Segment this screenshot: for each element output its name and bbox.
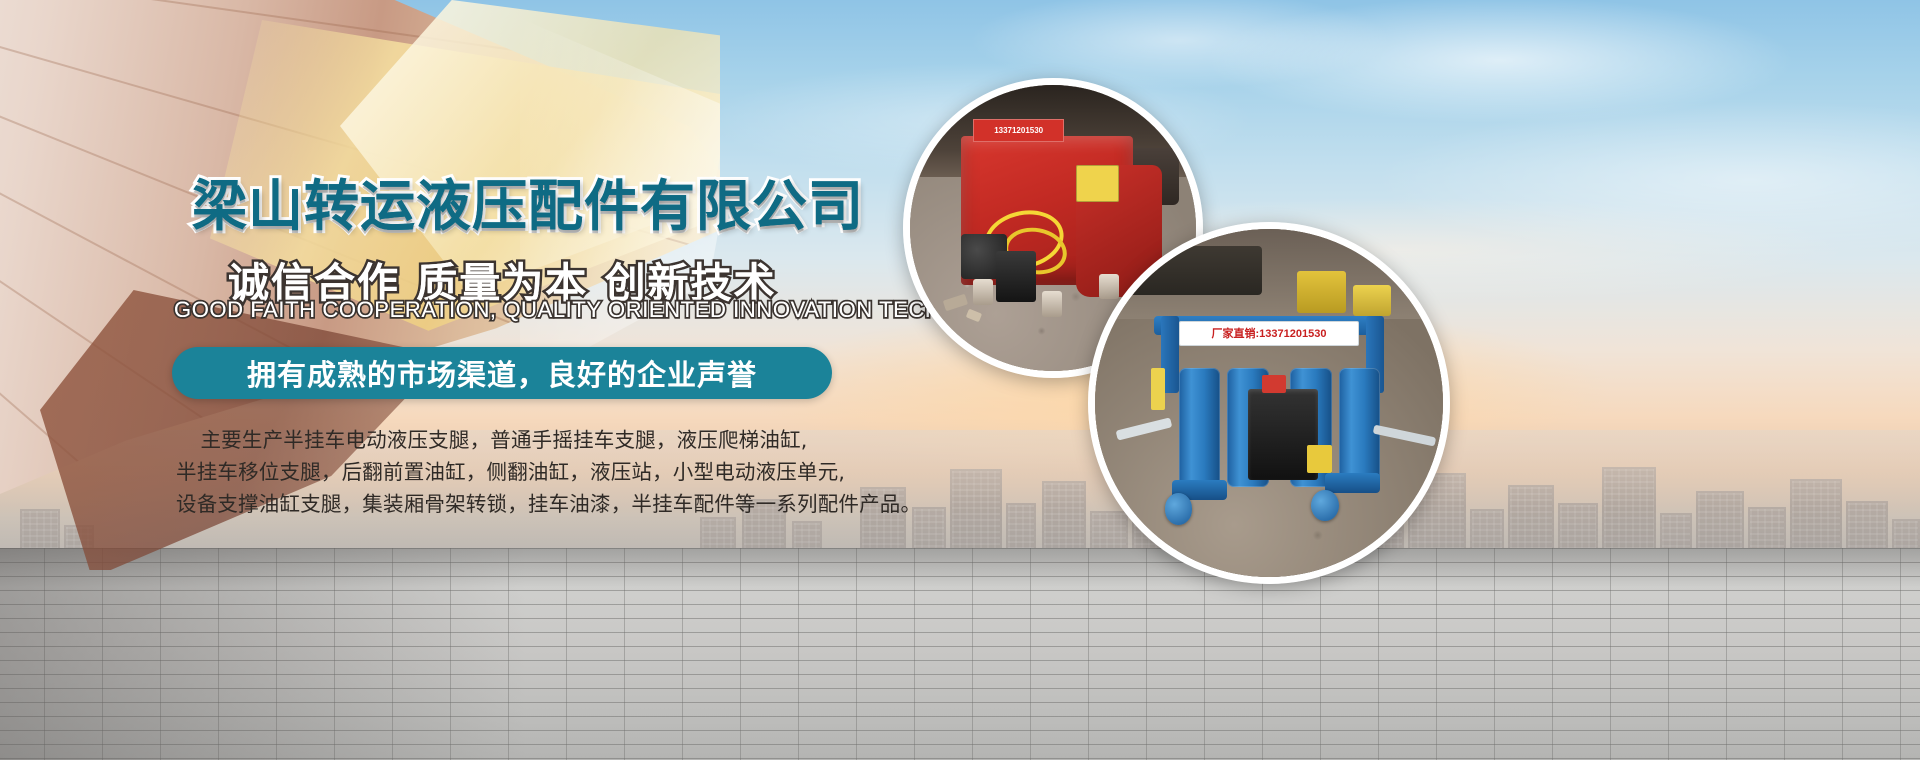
blue-machine-photo: 厂家直销:13371201530 bbox=[1095, 229, 1443, 577]
blue-machine-phone-sign: 厂家直销:13371201530 bbox=[1179, 321, 1360, 345]
blue-machine-caster-wheel bbox=[1165, 493, 1193, 524]
blue-machine-yellow-badge bbox=[1307, 445, 1331, 473]
blue-machine-hydraulic-cylinder bbox=[1179, 368, 1221, 486]
red-machine-support-pad bbox=[1042, 291, 1062, 317]
blue-machine-base-foot bbox=[1325, 473, 1381, 494]
banner-text-column: 梁山转运液压配件有限公司 梁山转运液压配件有限公司 诚信合作 质量为本 创新技术… bbox=[0, 0, 900, 760]
description-line-2: 半挂车移位支腿，后翻前置油缸，侧翻油缸，液压站，小型电动液压单元, bbox=[176, 456, 832, 488]
red-machine-pump bbox=[996, 251, 1036, 302]
red-machine-warning-label bbox=[1076, 165, 1119, 202]
highlight-pill: 拥有成熟的市场渠道，良好的企业声誉 bbox=[172, 347, 832, 399]
photo-circle-blue-machine: 厂家直销:13371201530 bbox=[1088, 222, 1450, 584]
product-description: 主要生产半挂车电动液压支腿，普通手摇挂车支腿，液压爬梯油缸, 半挂车移位支腿，后… bbox=[176, 424, 832, 520]
hero-banner: 梁山转运液压配件有限公司 梁山转运液压配件有限公司 诚信合作 质量为本 创新技术… bbox=[0, 0, 1920, 760]
red-machine-phone-sign: 13371201530 bbox=[973, 119, 1065, 142]
blue-photo-background-equipment bbox=[1123, 246, 1262, 295]
blue-photo-background-yellow-part bbox=[1353, 285, 1391, 316]
blue-machine-yellow-marker bbox=[1151, 368, 1165, 410]
highlight-pill-text: 拥有成熟的市场渠道，良好的企业声誉 bbox=[172, 347, 832, 399]
red-machine-support-pad bbox=[973, 279, 993, 305]
company-title: 梁山转运液压配件有限公司 bbox=[192, 161, 864, 241]
blue-machine-red-button bbox=[1262, 375, 1286, 392]
blue-machine-caster-wheel bbox=[1311, 490, 1339, 521]
description-line-1: 主要生产半挂车电动液压支腿，普通手摇挂车支腿，液压爬梯油缸, bbox=[176, 424, 832, 456]
description-line-3: 设备支撑油缸支腿，集装厢骨架转锁，挂车油漆，半挂车配件等一系列配件产品。 bbox=[176, 488, 832, 520]
blue-photo-background-yellow-part bbox=[1297, 271, 1346, 313]
